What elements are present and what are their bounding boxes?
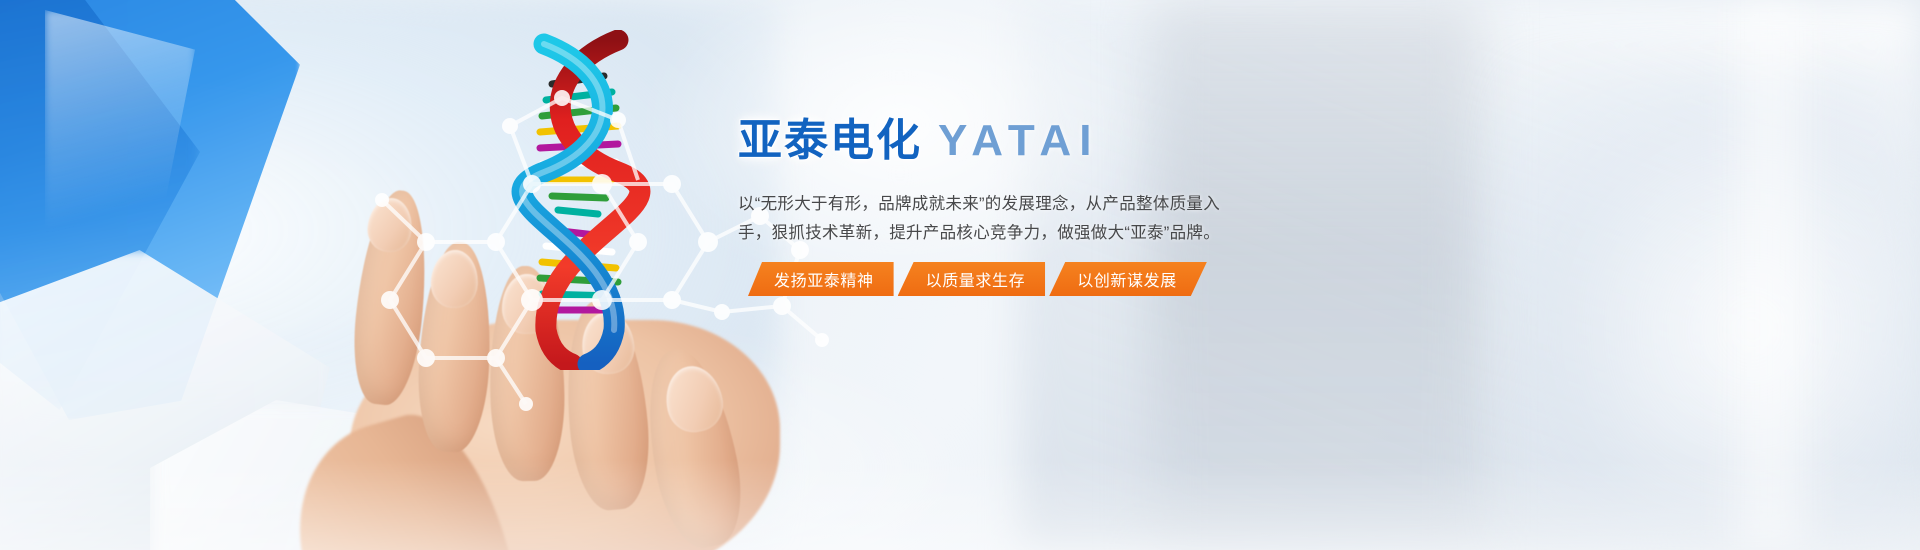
banner-description: 以“无形大于有形，品牌成就未来”的发展理念，从产品整体质量入手，狠抓技术革新，提… [738,190,1238,248]
banner-title-cn: 亚泰电化 [738,116,922,165]
banner-title-en: YATAI [938,116,1099,165]
slogan-tag-3[interactable]: 以创新谋发展 [1049,262,1207,296]
slogan-tag-1-label: 发扬亚泰精神 [774,267,874,291]
bottom-fade [0,460,1920,550]
banner-title: 亚泰电化YATAI [738,112,1438,170]
banner-content: 亚泰电化YATAI 以“无形大于有形，品牌成就未来”的发展理念，从产品整体质量入… [738,112,1438,248]
slogan-tag-2[interactable]: 以质量求生存 [898,262,1046,296]
slogan-tag-2-label: 以质量求生存 [926,267,1026,291]
slogan-tag-list: 发扬亚泰精神 以质量求生存 以创新谋发展 [748,262,1207,296]
slogan-tag-3-label: 以创新谋发展 [1077,267,1177,291]
slogan-tag-1[interactable]: 发扬亚泰精神 [748,262,894,296]
hero-banner: 亚泰电化YATAI 以“无形大于有形，品牌成就未来”的发展理念，从产品整体质量入… [0,0,1920,550]
